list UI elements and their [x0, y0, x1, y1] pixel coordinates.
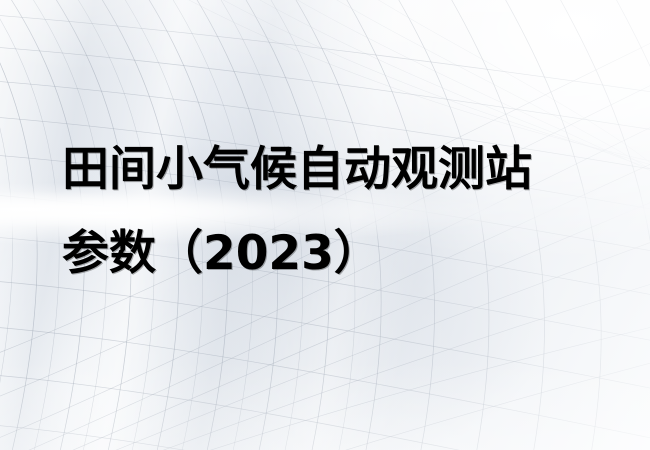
- title-line-2: 参数（2023）: [62, 212, 602, 296]
- title-card: 田间小气候自动观测站 参数（2023）: [0, 0, 650, 450]
- title-line-1: 田间小气候自动观测站: [62, 128, 602, 212]
- page-title: 田间小气候自动观测站 参数（2023）: [62, 128, 602, 296]
